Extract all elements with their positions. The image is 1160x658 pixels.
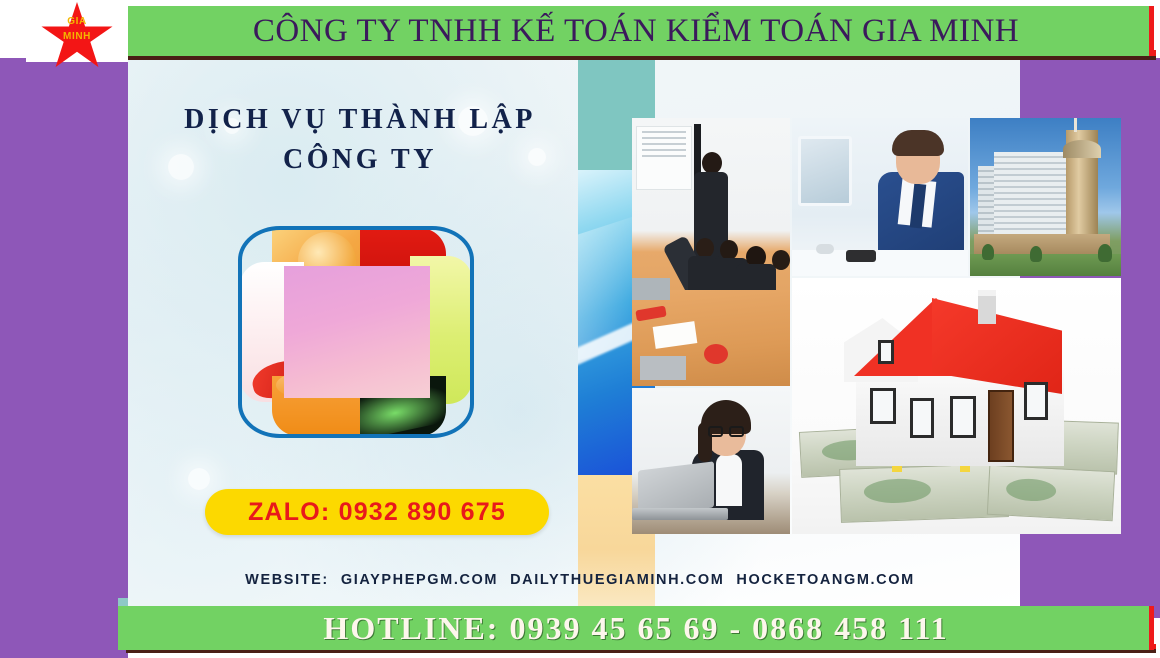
woman-blouse: [716, 454, 742, 506]
website-link-2[interactable]: DAILYTHUEGIAMINH.COM: [510, 572, 724, 588]
laptop-base: [632, 508, 728, 520]
photo-collage: [632, 118, 1121, 534]
tree: [1030, 246, 1042, 262]
office-building-photo: [970, 118, 1121, 276]
decorative-bubble: [188, 468, 210, 490]
logo-text-line-2: MINH: [40, 29, 114, 44]
purple-bottom-strip: [0, 640, 128, 658]
logo-text: GIA MINH: [40, 14, 114, 44]
computer-mouse: [816, 244, 834, 254]
zalo-contact-button[interactable]: ZALO: 0932 890 675: [205, 489, 549, 535]
laptop-screen: [632, 278, 670, 300]
page-title-line-2: CÔNG TY: [150, 140, 570, 180]
desktop-monitor: [798, 136, 852, 206]
eyeglasses-icon: [708, 426, 744, 437]
house-door: [988, 390, 1014, 462]
logo-text-line-1: GIA: [40, 14, 114, 29]
businesswoman-laptop-photo: [632, 388, 790, 534]
tree: [1098, 244, 1112, 262]
page-title-line-1: DỊCH VỤ THÀNH LẬP: [150, 100, 570, 140]
money-stack: [839, 463, 1009, 523]
house-window: [910, 398, 934, 438]
house-attic-window: [878, 340, 894, 364]
emblem-scallop-frame: [238, 226, 474, 438]
presenter-head: [702, 152, 722, 174]
purple-left-border: [0, 58, 128, 648]
website-line: WEBSITE: GIAYPHEPGM.COM DAILYTHUEGIAMINH…: [140, 569, 1020, 591]
laptop-lid: [640, 356, 686, 380]
attendee-head-1: [696, 238, 714, 258]
desk-surface: [792, 250, 968, 276]
website-link-3[interactable]: HOCKETOANGM.COM: [736, 572, 914, 588]
attendee-head-2: [720, 240, 738, 260]
businessman-at-desk-photo: [792, 118, 968, 276]
hotline-text: HOTLINE: 0939 45 65 69 - 0868 458 111: [118, 606, 1154, 650]
page-title: DỊCH VỤ THÀNH LẬP CÔNG TY: [150, 100, 570, 180]
logo[interactable]: GIA MINH: [26, 0, 128, 62]
business-meeting-training-photo: [632, 118, 790, 386]
website-link-1[interactable]: GIAYPHEPGM.COM: [341, 572, 498, 588]
house-window: [1024, 382, 1048, 420]
whiteboard: [636, 126, 692, 190]
businessman-hair: [892, 130, 944, 156]
website-label: WEBSITE:: [245, 572, 329, 588]
house-window: [950, 396, 976, 438]
house-chimney: [978, 290, 996, 324]
tree: [982, 244, 994, 260]
money-stack: [987, 465, 1115, 522]
house-window: [870, 388, 896, 424]
poster-canvas: DỊCH VỤ THÀNH LẬP CÔNG TY ZALO: 0932 890…: [0, 0, 1160, 658]
company-title: CÔNG TY TNHH KẾ TOÁN KIỂM TOÁN GIA MINH: [118, 6, 1154, 56]
red-sphere: [704, 344, 728, 364]
house-on-money-stacks-photo: [792, 278, 1121, 534]
decorative-color-panel-emblem: [238, 226, 474, 438]
calculator: [846, 250, 876, 262]
building-main-block: [994, 152, 1074, 244]
attendee-head-4: [772, 250, 790, 270]
